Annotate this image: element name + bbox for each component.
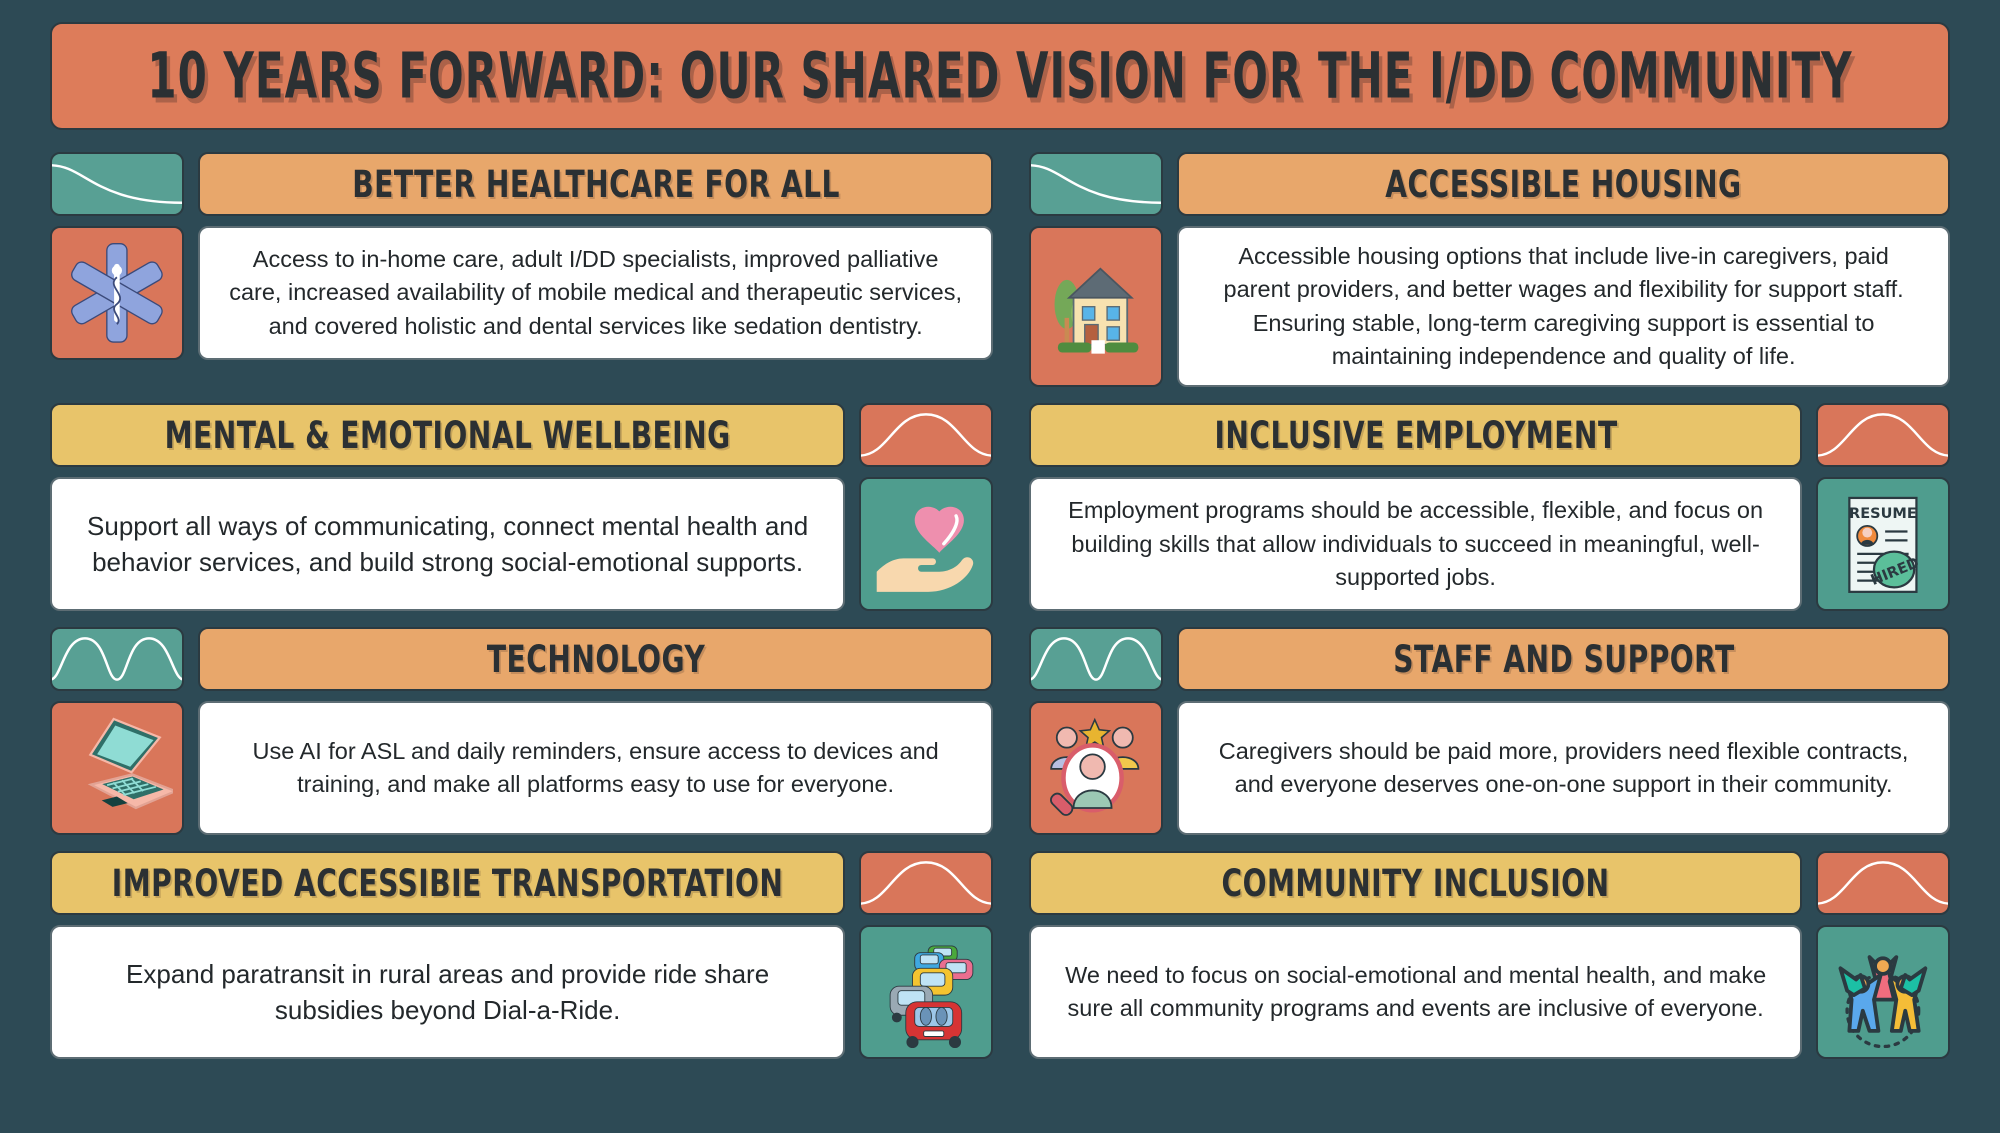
card-technology: TECHNOLOGY <box>50 627 993 835</box>
card-body-box: Support all ways of communicating, conne… <box>50 477 845 611</box>
card-header-strip: ACCESSIBLE HOUSING <box>1029 152 1950 216</box>
card-body-row: Access to in-home care, adult I/DD speci… <box>50 226 993 360</box>
card-body-box: Access to in-home care, adult I/DD speci… <box>198 226 993 360</box>
card-body-text: Access to in-home care, adult I/DD speci… <box>224 243 967 343</box>
card-title-bar: TECHNOLOGY <box>198 627 993 691</box>
card-body-row: Expand paratransit in rural areas and pr… <box>50 925 993 1059</box>
card-body-row: Accessible housing options that include … <box>1029 226 1950 387</box>
card-body-box: Use AI for ASL and daily reminders, ensu… <box>198 701 993 835</box>
card-title-bar: COMMUNITY INCLUSION <box>1029 851 1802 915</box>
s-curve-decoration-icon <box>50 152 184 216</box>
card-header-strip: MENTAL & EMOTIONAL WELLBEING <box>50 403 993 467</box>
card-accessible-housing: ACCESSIBLE HOUSING <box>1029 152 1950 387</box>
card-header-strip: BETTER HEALTHCARE FOR ALL <box>50 152 993 216</box>
card-title-bar: ACCESSIBLE HOUSING <box>1177 152 1950 216</box>
card-header-strip: IMPROVED ACCESSIBIE TRANSPORTATION <box>50 851 993 915</box>
infographic-page: 10 YEARS FORWARD: OUR SHARED VISION FOR … <box>0 0 2000 1133</box>
card-body-box: Caregivers should be paid more, provider… <box>1177 701 1950 835</box>
card-header-strip: INCLUSIVE EMPLOYMENT <box>1029 403 1950 467</box>
bell-curve-decoration-icon <box>859 403 993 467</box>
page-title-banner: 10 YEARS FORWARD: OUR SHARED VISION FOR … <box>50 22 1950 130</box>
card-body-text: Expand paratransit in rural areas and pr… <box>76 956 819 1030</box>
card-body-text: Accessible housing options that include … <box>1203 240 1924 373</box>
cards-grid: BETTER HEALTHCARE FOR ALL <box>50 152 1950 1059</box>
card-staff-and-support: STAFF AND SUPPORT <box>1029 627 1950 835</box>
card-body-text: Support all ways of communicating, conne… <box>76 508 819 582</box>
laptop-icon <box>50 701 184 835</box>
card-title: MENTAL & EMOTIONAL WELLBEING <box>165 413 731 457</box>
page-title: 10 YEARS FORWARD: OUR SHARED VISION FOR … <box>147 39 1852 112</box>
card-body-text: Caregivers should be paid more, provider… <box>1203 735 1924 802</box>
card-community-inclusion: COMMUNITY INCLUSION <box>1029 851 1950 1059</box>
double-wave-decoration-icon <box>1029 627 1163 691</box>
card-body-box: We need to focus on social-emotional and… <box>1029 925 1802 1059</box>
card-body-text: We need to focus on social-emotional and… <box>1055 959 1776 1026</box>
card-title: IMPROVED ACCESSIBIE TRANSPORTATION <box>112 861 784 905</box>
card-title-bar: STAFF AND SUPPORT <box>1177 627 1950 691</box>
card-body-row: Support all ways of communicating, conne… <box>50 477 993 611</box>
card-title: TECHNOLOGY <box>486 637 704 681</box>
resume-hired-icon: RESUME HIRED <box>1816 477 1950 611</box>
card-body-box: Expand paratransit in rural areas and pr… <box>50 925 845 1059</box>
people-circle-icon <box>1816 925 1950 1059</box>
bell-curve-decoration-icon <box>1816 851 1950 915</box>
card-title: BETTER HEALTHCARE FOR ALL <box>352 162 840 206</box>
card-header-strip: COMMUNITY INCLUSION <box>1029 851 1950 915</box>
card-title-bar: IMPROVED ACCESSIBIE TRANSPORTATION <box>50 851 845 915</box>
card-header-strip: TECHNOLOGY <box>50 627 993 691</box>
card-title: ACCESSIBLE HOUSING <box>1385 162 1741 206</box>
card-body-text: Use AI for ASL and daily reminders, ensu… <box>224 735 967 802</box>
star-of-life-icon <box>50 226 184 360</box>
people-magnifier-icon <box>1029 701 1163 835</box>
card-body-row: We need to focus on social-emotional and… <box>1029 925 1950 1059</box>
house-icon <box>1029 226 1163 387</box>
card-title-bar: BETTER HEALTHCARE FOR ALL <box>198 152 993 216</box>
card-body-box: Accessible housing options that include … <box>1177 226 1950 387</box>
card-title-bar: INCLUSIVE EMPLOYMENT <box>1029 403 1802 467</box>
bell-curve-decoration-icon <box>1816 403 1950 467</box>
card-body-text: Employment programs should be accessible… <box>1055 494 1776 594</box>
card-mental-emotional-wellbeing: MENTAL & EMOTIONAL WELLBEING Support all… <box>50 403 993 611</box>
card-body-row: RESUME HIRED Employ <box>1029 477 1950 611</box>
card-body-row: Caregivers should be paid more, provider… <box>1029 701 1950 835</box>
card-title: COMMUNITY INCLUSION <box>1222 861 1610 905</box>
card-improved-accessible-transportation: IMPROVED ACCESSIBIE TRANSPORTATION <box>50 851 993 1059</box>
card-title: STAFF AND SUPPORT <box>1393 637 1734 681</box>
bell-curve-decoration-icon <box>859 851 993 915</box>
card-header-strip: STAFF AND SUPPORT <box>1029 627 1950 691</box>
resume-heading-text: RESUME <box>1849 506 1917 522</box>
card-body-row: Use AI for ASL and daily reminders, ensu… <box>50 701 993 835</box>
heart-in-hand-icon <box>859 477 993 611</box>
card-body-box: Employment programs should be accessible… <box>1029 477 1802 611</box>
card-inclusive-employment: INCLUSIVE EMPLOYMENT RESUME <box>1029 403 1950 611</box>
card-title-bar: MENTAL & EMOTIONAL WELLBEING <box>50 403 845 467</box>
double-wave-decoration-icon <box>50 627 184 691</box>
card-better-healthcare: BETTER HEALTHCARE FOR ALL <box>50 152 993 387</box>
s-curve-decoration-icon <box>1029 152 1163 216</box>
card-title: INCLUSIVE EMPLOYMENT <box>1214 413 1617 457</box>
cars-queue-icon <box>859 925 993 1059</box>
